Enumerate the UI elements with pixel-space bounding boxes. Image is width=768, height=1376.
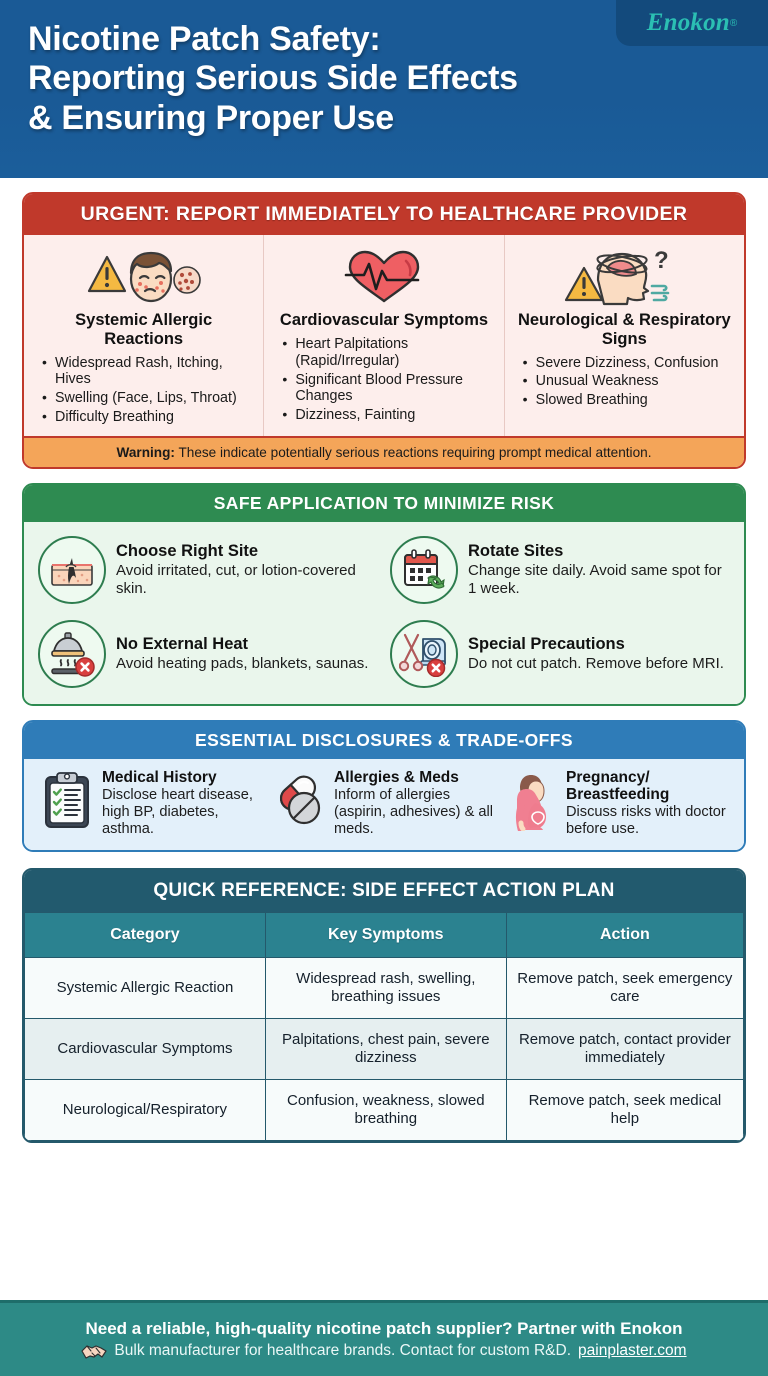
disclosure-item-title: Pregnancy/ Breastfeeding: [566, 769, 728, 803]
disclosure-item-text: Disclose heart disease, high BP, diabete…: [102, 787, 264, 838]
brand-logo-text: Enokon: [647, 9, 730, 37]
disclosure-item-allergies: Allergies & Meds Inform of allergies (as…: [268, 769, 500, 838]
list-item: Heart Palpitations (Rapid/Irregular): [282, 336, 493, 370]
urgent-column-neurological: ? Neurological & Respiratory Signs Sever…: [504, 235, 744, 436]
disclosure-item-text: Inform of allergies (aspirin, adhesives)…: [334, 787, 496, 838]
pills-icon: [272, 769, 326, 827]
cell-symptoms: Palpitations, chest pain, severe dizzine…: [265, 1019, 506, 1080]
urgent-column-cardiovascular: Cardiovascular Symptoms Heart Palpitatio…: [263, 235, 503, 436]
list-item: Swelling (Face, Lips, Throat): [42, 390, 253, 407]
cell-category: Cardiovascular Symptoms: [25, 1019, 266, 1080]
list-item: Slowed Breathing: [523, 392, 734, 409]
list-item: Dizziness, Fainting: [282, 407, 493, 424]
clipboard-checklist-icon: [40, 769, 94, 829]
action-plan-table: Category Key Symptoms Action Systemic Al…: [24, 912, 744, 1141]
safe-item-no-heat: No External Heat Avoid heating pads, bla…: [38, 614, 378, 694]
urgent-column-allergic: Systemic Allergic Reactions Widespread R…: [24, 235, 263, 436]
urgent-symptom-list: Severe Dizziness, Confusion Unusual Weak…: [515, 355, 734, 410]
safe-item-title: No External Heat: [116, 635, 368, 653]
safe-item-text: Avoid heating pads, blankets, saunas.: [116, 655, 368, 673]
page-title: Nicotine Patch Safety: Reporting Serious…: [28, 20, 668, 138]
title-line-1: Nicotine Patch Safety:: [28, 20, 668, 59]
warning-text: These indicate potentially serious react…: [178, 445, 651, 460]
cell-category: Neurological/Respiratory: [25, 1080, 266, 1141]
table-row: Cardiovascular Symptoms Palpitations, ch…: [25, 1019, 744, 1080]
safe-item-title: Special Precautions: [468, 635, 724, 653]
brand-logo[interactable]: Enokon®: [616, 0, 768, 46]
column-header-symptoms: Key Symptoms: [265, 913, 506, 958]
list-item: Difficulty Breathing: [42, 409, 253, 426]
table-row: Systemic Allergic Reaction Widespread ra…: [25, 958, 744, 1019]
footer-cta: Need a reliable, high-quality nicotine p…: [0, 1300, 768, 1376]
safe-item-rotate-sites: Rotate Sites Change site daily. Avoid sa…: [390, 530, 730, 610]
heartbeat-icon: [274, 245, 493, 307]
disclosure-item-medical-history: Medical History Disclose heart disease, …: [36, 769, 268, 838]
safe-item-title: Choose Right Site: [116, 542, 378, 560]
allergic-face-icon: [34, 245, 253, 307]
urgent-column-title: Neurological & Respiratory Signs: [515, 311, 734, 349]
disclosure-item-title: Medical History: [102, 769, 264, 786]
cell-action: Remove patch, seek medical help: [506, 1080, 743, 1141]
disclosures-section: ESSENTIAL DISCLOSURES & TRADE-OFFS: [22, 720, 746, 852]
safe-item-special-precautions: Special Precautions Do not cut patch. Re…: [390, 614, 730, 694]
urgent-section: URGENT: REPORT IMMEDIATELY TO HEALTHCARE…: [22, 192, 746, 469]
safe-application-heading: SAFE APPLICATION TO MINIMIZE RISK: [24, 485, 744, 522]
list-item: Significant Blood Pressure Changes: [282, 372, 493, 406]
title-line-3: & Ensuring Proper Use: [28, 99, 668, 138]
registered-mark-icon: ®: [730, 18, 737, 29]
calendar-rotate-icon: [390, 536, 458, 604]
pregnant-woman-icon: [504, 769, 558, 831]
safe-item-text: Avoid irritated, cut, or lotion-covered …: [116, 562, 378, 597]
disclosure-item-title: Allergies & Meds: [334, 769, 496, 786]
title-line-2: Reporting Serious Side Effects: [28, 59, 668, 98]
scissors-mri-prohibited-icon: [390, 620, 458, 688]
urgent-symptom-list: Heart Palpitations (Rapid/Irregular) Sig…: [274, 336, 493, 424]
disclosure-item-text: Discuss risks with doctor before use.: [566, 804, 728, 838]
warning-bar: Warning: These indicate potentially seri…: [24, 436, 744, 467]
dizzy-head-icon: ?: [515, 245, 734, 307]
list-item: Unusual Weakness: [523, 373, 734, 390]
handshake-icon: [81, 1342, 107, 1360]
column-header-category: Category: [25, 913, 266, 958]
infographic-page: Nicotine Patch Safety: Reporting Serious…: [0, 0, 768, 1376]
column-header-action: Action: [506, 913, 743, 958]
header-banner: Nicotine Patch Safety: Reporting Serious…: [0, 0, 768, 178]
disclosures-heading: ESSENTIAL DISCLOSURES & TRADE-OFFS: [24, 722, 744, 759]
footer-headline: Need a reliable, high-quality nicotine p…: [86, 1319, 683, 1339]
list-item: Severe Dizziness, Confusion: [523, 355, 734, 372]
urgent-column-title: Cardiovascular Symptoms: [274, 311, 493, 330]
quick-reference-heading: QUICK REFERENCE: SIDE EFFECT ACTION PLAN: [24, 870, 744, 912]
table-header-row: Category Key Symptoms Action: [25, 913, 744, 958]
cell-symptoms: Widespread rash, swelling, breathing iss…: [265, 958, 506, 1019]
urgent-column-title: Systemic Allergic Reactions: [34, 311, 253, 349]
warning-label: Warning:: [117, 445, 175, 460]
safe-application-section: SAFE APPLICATION TO MINIMIZE RISK: [22, 483, 746, 706]
footer-subline: Bulk manufacturer for healthcare brands.…: [81, 1342, 686, 1360]
safe-item-text: Change site daily. Avoid same spot for 1…: [468, 562, 730, 597]
cell-category: Systemic Allergic Reaction: [25, 958, 266, 1019]
table-row: Neurological/Respiratory Confusion, weak…: [25, 1080, 744, 1141]
urgent-symptom-list: Widespread Rash, Itching, Hives Swelling…: [34, 355, 253, 426]
footer-text: Bulk manufacturer for healthcare brands.…: [114, 1342, 571, 1360]
cell-symptoms: Confusion, weakness, slowed breathing: [265, 1080, 506, 1141]
safe-item-text: Do not cut patch. Remove before MRI.: [468, 655, 724, 673]
svg-text:?: ?: [654, 247, 669, 274]
disclosure-item-pregnancy: Pregnancy/ Breastfeeding Discuss risks w…: [500, 769, 732, 838]
heating-pad-prohibited-icon: [38, 620, 106, 688]
safe-item-choose-site: Choose Right Site Avoid irritated, cut, …: [38, 530, 378, 610]
cell-action: Remove patch, contact provider immediate…: [506, 1019, 743, 1080]
safe-item-title: Rotate Sites: [468, 542, 730, 560]
list-item: Widespread Rash, Itching, Hives: [42, 355, 253, 389]
quick-reference-section: QUICK REFERENCE: SIDE EFFECT ACTION PLAN…: [22, 868, 746, 1143]
website-link[interactable]: painplaster.com: [578, 1342, 687, 1360]
skin-cross-section-icon: [38, 536, 106, 604]
urgent-heading: URGENT: REPORT IMMEDIATELY TO HEALTHCARE…: [24, 194, 744, 235]
cell-action: Remove patch, seek emergency care: [506, 958, 743, 1019]
